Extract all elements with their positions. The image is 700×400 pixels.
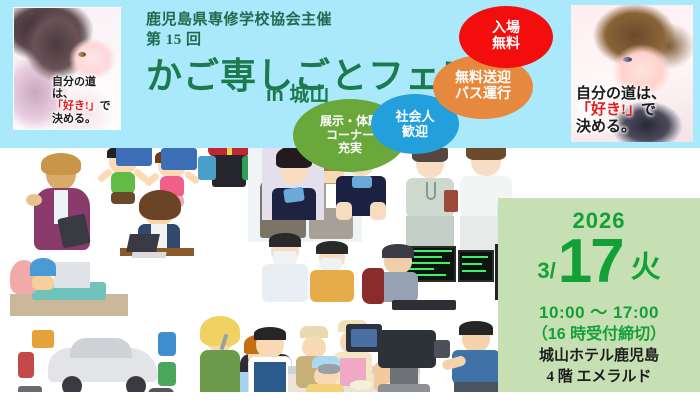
bubble-admission-line1: 入場 [492, 21, 520, 37]
right-caption-line1: 自分の道は、 [576, 86, 689, 103]
bubble-admission-free: 入場 無料 [459, 6, 553, 68]
bubble-adults-line1: 社会人 [395, 109, 434, 124]
figure-tv-camera [342, 324, 452, 392]
left-caption-line2: 「好き!」で [52, 100, 116, 112]
page-subtitle: in 城山 [266, 78, 329, 107]
left-caption-keyword: 「好き!」 [52, 100, 100, 112]
event-info-panel: 2026 3/ 17 火 10:00 〜 17:00 （16 時受付締切） 城山… [498, 198, 700, 392]
figure-businesswoman [30, 156, 94, 254]
right-caption-line3: 決める。 [576, 119, 689, 136]
event-room: 4 階 エメラルド [498, 365, 700, 386]
bubble-shuttle-line1: 無料送迎 [455, 71, 511, 87]
figure-programmer [362, 246, 494, 316]
figure-care-worker-mask [258, 236, 312, 302]
left-poster-card: 自分の道は、 「好き!」で 決める。 [14, 8, 120, 129]
right-card-caption: 自分の道は、 「好き!」で 決める。 [576, 86, 689, 136]
event-date-row: 3/ 17 火 [498, 228, 700, 290]
figure-nurse-woman [400, 148, 460, 254]
figure-car-mechanic [18, 326, 178, 392]
event-month: 3/ [537, 258, 555, 284]
organizer-text: 鹿児島県専修学校協会主催 [146, 8, 332, 29]
figure-nursery-teacher-green [110, 148, 158, 172]
figure-nursery-teacher-pink [155, 148, 203, 174]
figure-care-child [306, 244, 358, 302]
figure-dental-lab [10, 260, 128, 318]
event-poster: 自分の道は、 「好き!」で 決める。 自分の道は、 「好き!」で 決める。 鹿児… [0, 0, 700, 400]
left-caption-line1: 自分の道は、 [52, 76, 116, 101]
bubble-exhibit-line3: 充実 [338, 142, 362, 156]
event-venue: 城山ホテル鹿児島 [498, 344, 700, 365]
edition-text: 第 15 回 [146, 28, 202, 49]
bubble-adults-line2: 歓迎 [402, 124, 428, 139]
bubble-admission-line2: 無料 [492, 37, 520, 53]
bubble-shuttle-line2: バス運行 [455, 87, 511, 103]
left-caption-line3: 決める。 [52, 113, 116, 125]
reception-close-note: （16 時受付締切） [498, 320, 700, 344]
left-caption-particle: で [100, 100, 111, 112]
event-day: 17 [558, 233, 623, 290]
right-caption-line2: 「好き!」で [576, 102, 689, 119]
right-caption-particle: で [641, 102, 656, 118]
event-day-of-week: 火 [631, 242, 661, 286]
right-caption-keyword: 「好き!」 [576, 102, 641, 118]
figure-office-laptop [120, 190, 200, 270]
right-poster-card: 自分の道は、 「好き!」で 決める。 [571, 5, 693, 142]
left-card-caption: 自分の道は、 「好き!」で 決める。 [52, 76, 116, 125]
